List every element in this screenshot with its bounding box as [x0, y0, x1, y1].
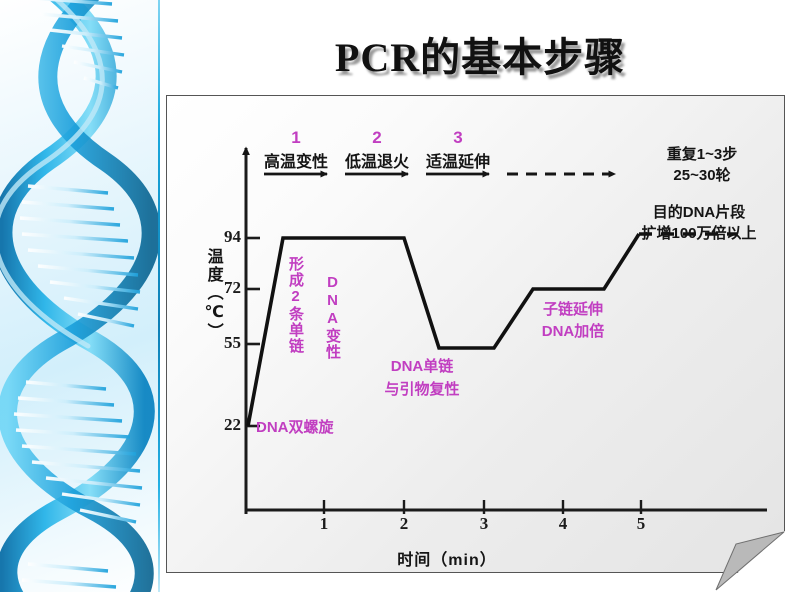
- step-3-label: 适温延伸: [415, 148, 501, 172]
- dna-denaturation-label: DNA变性: [322, 274, 343, 360]
- daughter-strand-extension-line2: DNA加倍: [519, 321, 627, 343]
- y-tick-label-22: 22: [207, 415, 241, 435]
- slide-canvas: PCR的基本步骤: [0, 0, 805, 592]
- helix-edge-accent: [158, 0, 160, 592]
- dna-helix-icon: [0, 0, 160, 592]
- single-strand-annealing-line2: 与引物复性: [357, 378, 487, 401]
- x-axis-title: 时间（min）: [347, 546, 547, 570]
- dna-helix-decoration: [0, 0, 160, 592]
- repeat-steps-line2: 25~30轮: [622, 165, 782, 186]
- y-tick-label-94: 94: [207, 227, 241, 247]
- form-two-single-strands-label: 形成2条单链: [285, 256, 306, 354]
- x-tick-label-2: 2: [394, 514, 414, 534]
- target-dna-line1: 目的DNA片段: [614, 202, 784, 223]
- step-3-number: 3: [433, 128, 483, 148]
- pcr-temperature-chart: 温度（℃） 94 72 55 22 1 2 3 4 5 时间（min） 1 2 …: [166, 95, 785, 573]
- x-tick-label-5: 5: [631, 514, 651, 534]
- y-tick-label-55: 55: [207, 333, 241, 353]
- x-tick-marks: [324, 500, 641, 514]
- x-tick-label-3: 3: [474, 514, 494, 534]
- dna-double-helix-label: DNA双螺旋: [256, 416, 334, 437]
- page-title: PCR的基本步骤: [170, 28, 790, 88]
- repeat-steps-line1: 重复1~3步: [622, 144, 782, 165]
- daughter-strand-extension-line1: 子链延伸: [519, 299, 627, 321]
- page-curl-corner: [700, 530, 786, 592]
- x-tick-label-1: 1: [314, 514, 334, 534]
- step-1-number: 1: [271, 128, 321, 148]
- y-tick-label-72: 72: [207, 278, 241, 298]
- x-tick-label-4: 4: [553, 514, 573, 534]
- target-dna-line2: 扩增100万倍以上: [610, 223, 785, 244]
- step-2-number: 2: [352, 128, 402, 148]
- single-strand-annealing-line1: DNA单链: [363, 355, 481, 378]
- step-2-label: 低温退火: [334, 148, 420, 172]
- step-1-label: 高温变性: [253, 148, 339, 172]
